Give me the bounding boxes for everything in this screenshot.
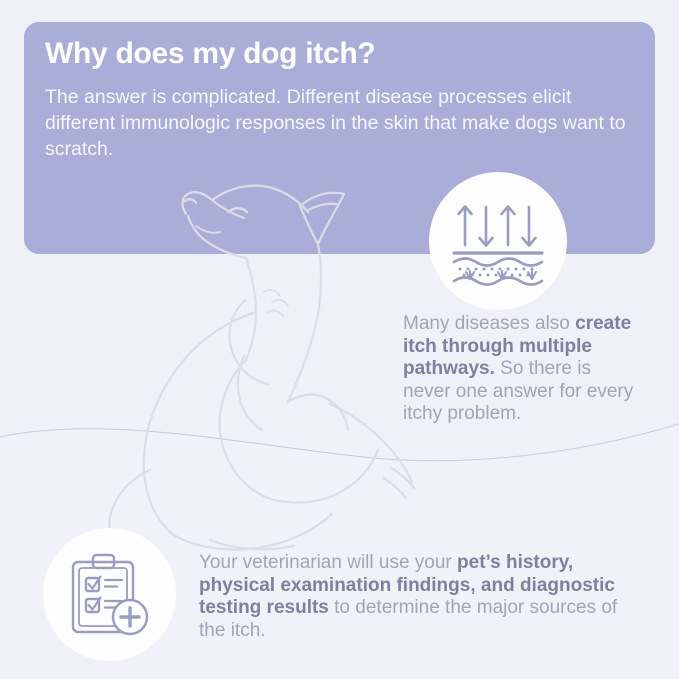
- header-card-body-text: The answer is complicated. Different dis…: [45, 86, 626, 160]
- clipboard-icon-circle: [43, 528, 176, 661]
- header-card-body: The answer is complicated. Different dis…: [45, 84, 637, 162]
- clipboard-checklist-medical-icon: [64, 549, 156, 641]
- page-title: Why does my dog itch?: [45, 37, 375, 71]
- skin-barrier-icon-circle: [429, 172, 567, 310]
- medical-cross-badge: [113, 600, 147, 634]
- infographic-canvas: Why does my dog itch? The answer is comp…: [0, 0, 679, 679]
- skin-nerve-endings: [466, 271, 536, 279]
- pathways-run-0: Many diseases also: [403, 313, 575, 334]
- diagnostics-text-block: Your veterinarian will use your pet’s hi…: [199, 552, 621, 642]
- diagnostics-run-0: Your veterinarian will use your: [199, 552, 457, 573]
- ground-curve-line: [0, 424, 679, 461]
- skin-barrier-arrows-icon: [446, 189, 550, 293]
- pathways-text-block: Many diseases also create itch through m…: [403, 313, 635, 426]
